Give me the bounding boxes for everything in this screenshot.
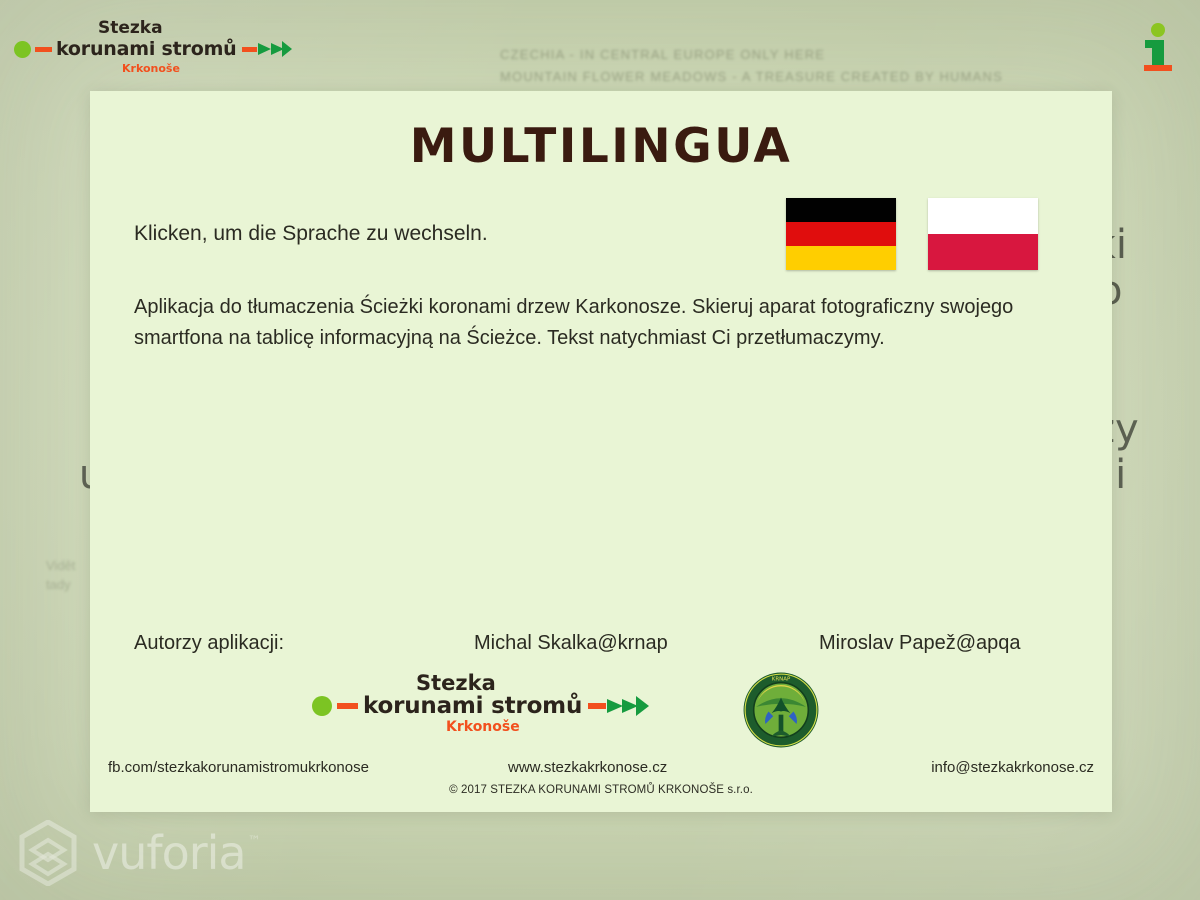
footer-brand-word-sub: Krkonoše [446,719,520,735]
footer-logo-row: Stezka korunami stromů Krkonoše [90,671,1112,757]
footer-double-arrow-icon [607,694,649,718]
footer-brand-row: korunami stromů [312,693,649,719]
background-board-header-text: CZECHIA - IN CENTRAL EUROPE ONLY HERE MO… [500,44,1100,88]
svg-text:KRNAP: KRNAP [772,676,791,682]
app-description: Aplikacja do tłumaczenia Ścieżki koronam… [90,292,1112,354]
ar-viewer-screen: CZECHIA - IN CENTRAL EUROPE ONLY HERE MO… [0,0,1200,900]
page-title: MULTILINGUA [90,119,1112,174]
brand-logo-row: korunami stromů [14,38,292,60]
email-link[interactable]: info@stezkakrkonose.cz [908,759,1094,776]
facebook-link[interactable]: fb.com/stezkakorunamistromukrkonose [108,759,508,776]
copyright-notice: © 2017 STEZKA KORUNAMI STROMŮ KRKONOŠE s… [90,784,1112,796]
krnap-national-park-badge-icon: KRNAP [742,671,820,749]
footer-green-dot-icon [312,696,332,716]
author-name-1: Michal Skalka@krnap [474,632,819,655]
double-arrow-icon [258,39,292,59]
language-prompt-label: Klicken, um die Sprache zu wechseln. [134,222,786,246]
flag-germany-stripe-gold [786,246,896,270]
footer-links-row: fb.com/stezkakorunamistromukrkonose www.… [90,759,1112,776]
brand-logo-word-main: korunami stromů [56,38,237,60]
website-link[interactable]: www.stezkakrkonose.cz [508,759,908,776]
flag-poland-stripe-white [928,198,1038,234]
orange-dash-icon [35,47,52,52]
footer-brand-logo: Stezka korunami stromů Krkonoše [312,671,632,757]
brand-logo-word-sub: Krkonoše [122,62,180,75]
flag-poland-stripe-red [928,234,1038,270]
flag-poland-button[interactable] [928,198,1038,270]
multilingua-card: MULTILINGUA Klicken, um die Sprache zu w… [90,91,1112,812]
language-selector-row: Klicken, um die Sprache zu wechseln. [90,198,1112,270]
author-name-2: Miroslav Papež@apqa [819,632,1092,655]
flag-germany-stripe-black [786,198,896,222]
green-dot-icon [14,41,31,58]
authors-row: Autorzy aplikacji: Michal Skalka@krnap M… [90,632,1112,655]
flag-germany-stripe-red [786,222,896,246]
info-button[interactable] [1138,20,1178,74]
orange-dash-icon-2 [242,47,257,52]
flag-group [786,198,1038,270]
flag-germany-button[interactable] [786,198,896,270]
footer-orange-dash-icon [337,703,358,709]
app-brand-logo: Stezka korunami stromů Krkonoše [14,16,290,86]
brand-logo-word-top: Stezka [98,18,163,38]
info-icon-underline [1144,65,1172,71]
footer-brand-word-top: Stezka [416,671,496,695]
authors-label: Autorzy aplikacji: [134,632,474,655]
info-icon-dot [1151,23,1165,37]
footer-brand-word-main: korunami stromů [363,693,582,719]
footer-orange-dash-icon-2 [588,703,606,709]
info-icon-stem [1152,40,1164,65]
